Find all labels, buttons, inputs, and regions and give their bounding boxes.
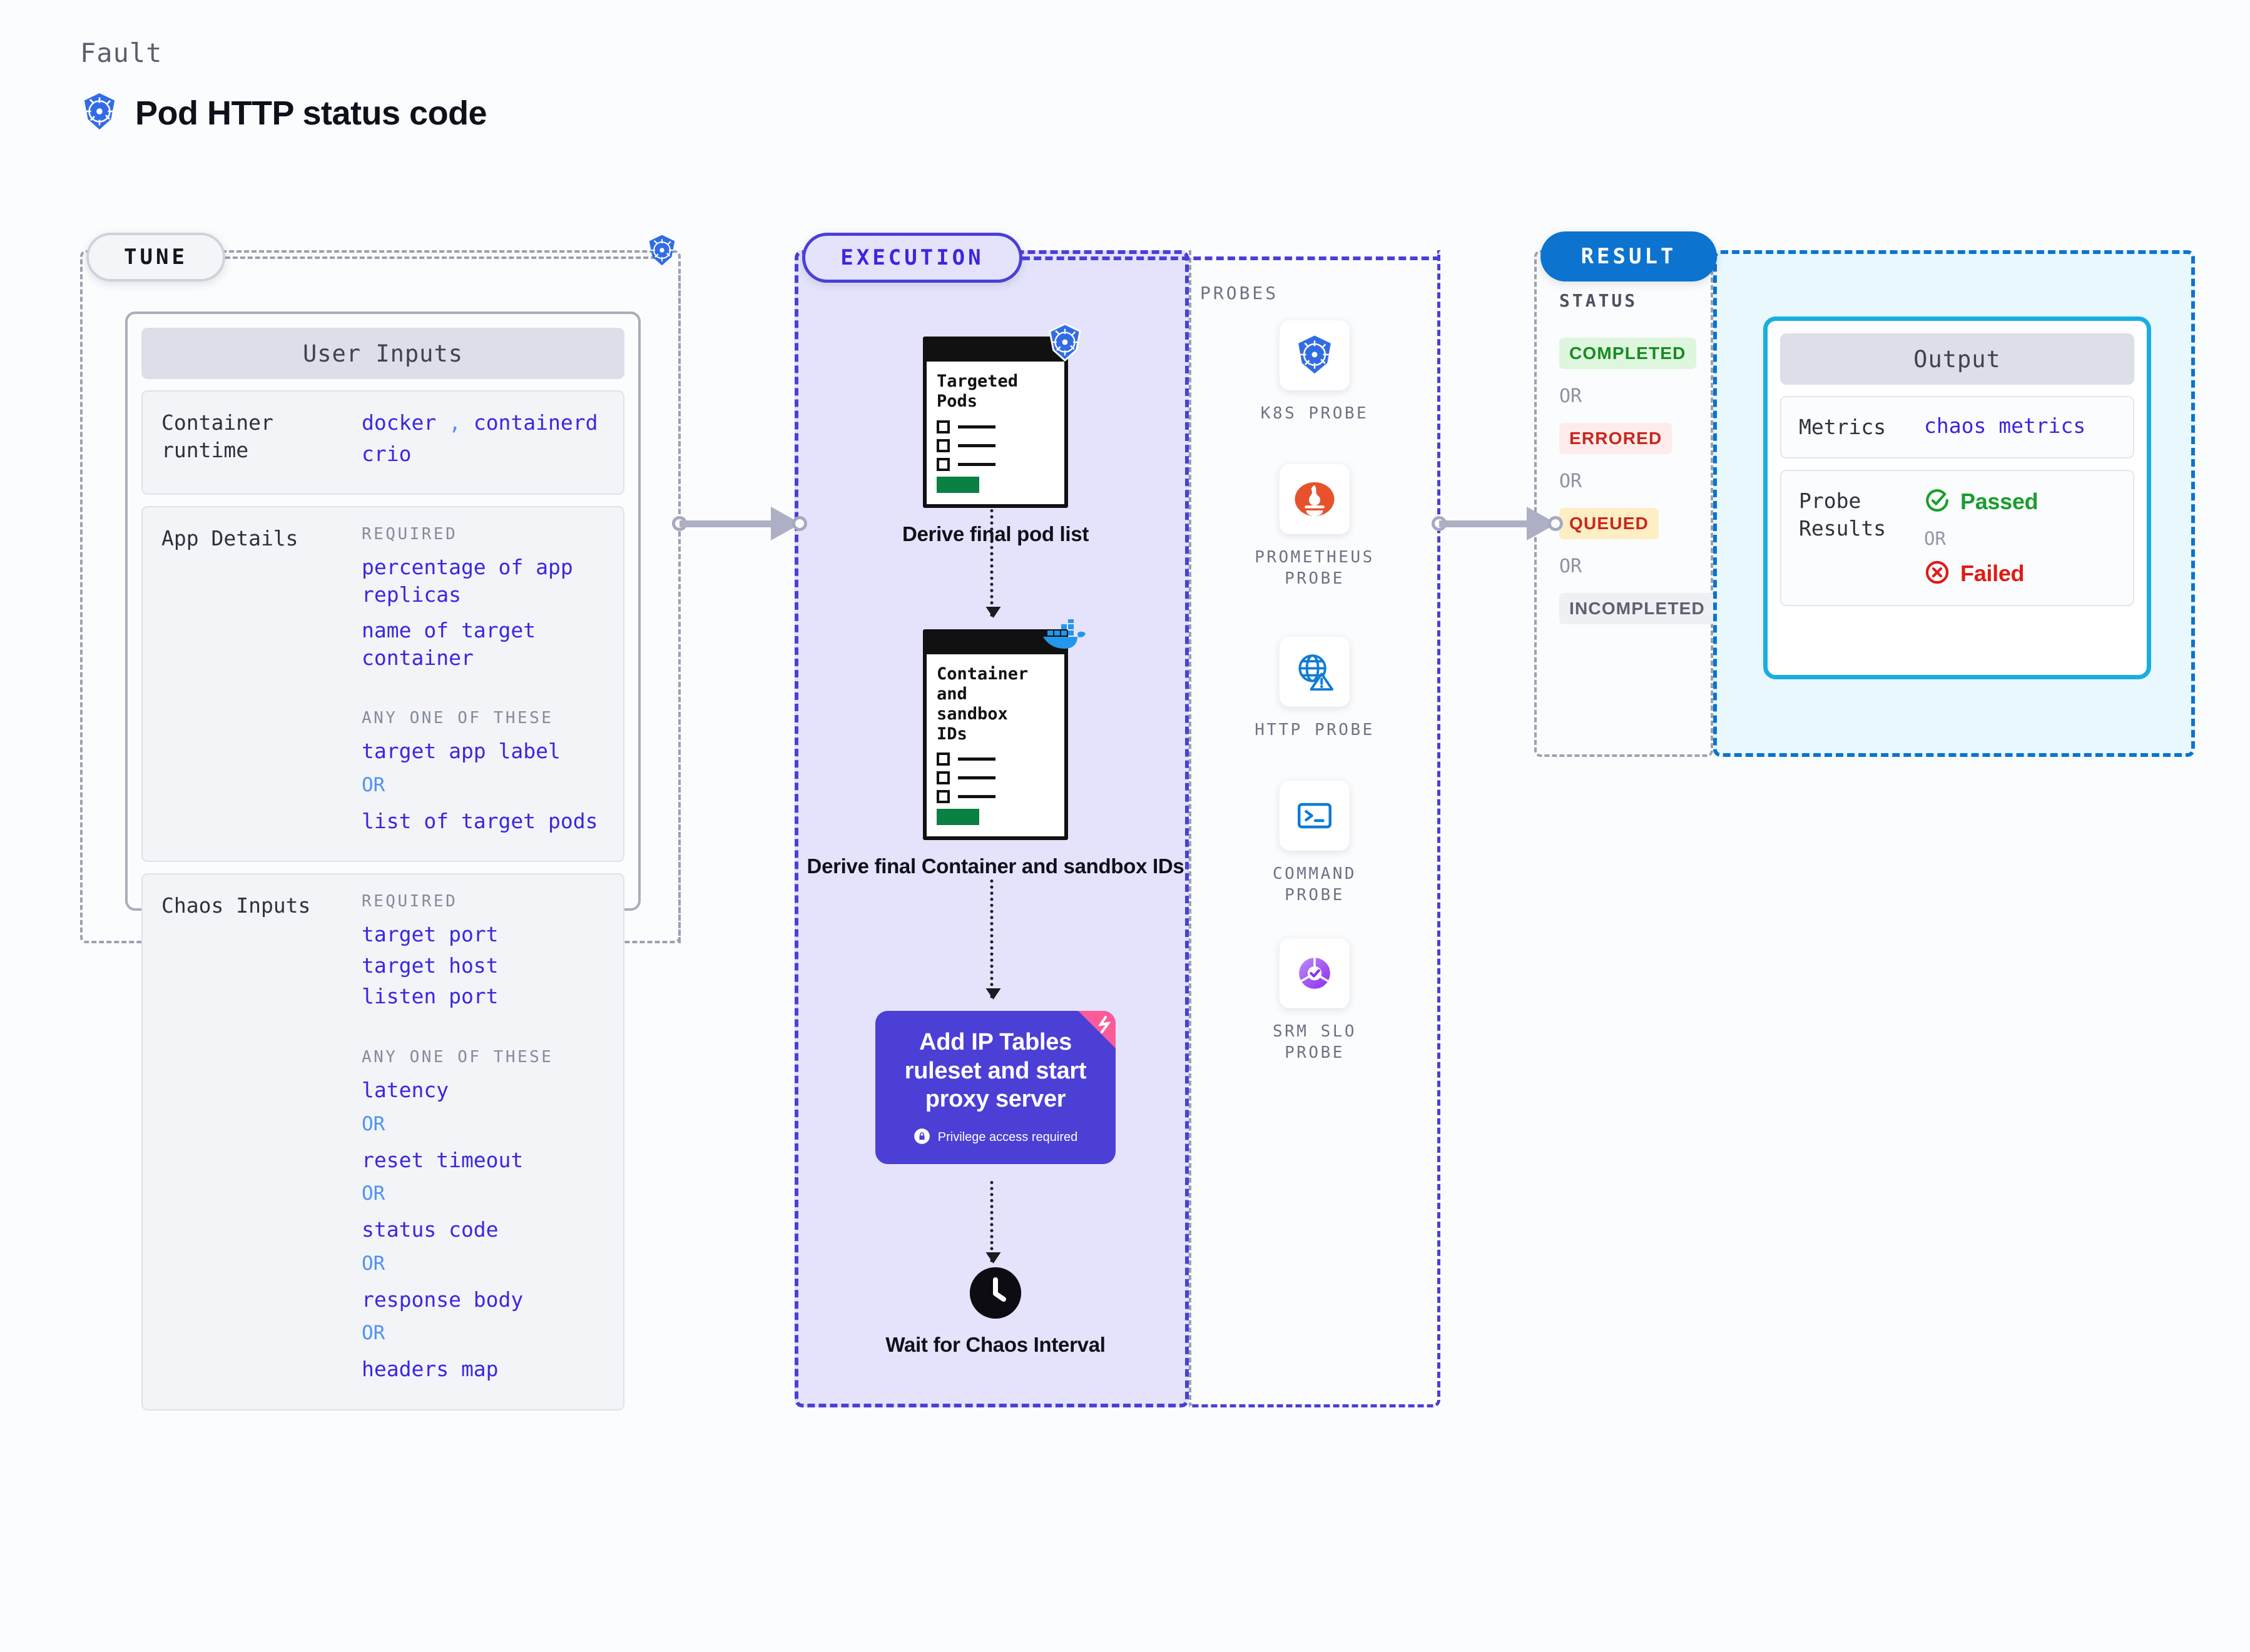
add-iptables-node[interactable]: Add IP Tables ruleset and start proxy se…	[875, 1011, 1116, 1164]
page-title-row: Pod HTTP status code	[80, 92, 487, 134]
doc-rule	[958, 776, 995, 779]
checkbox-icon	[937, 420, 950, 433]
input-value[interactable]: docker , containerd	[362, 409, 604, 437]
status-badge-incompleted: INCOMPLETED	[1559, 593, 1715, 624]
execution-node-iptables: Add IP Tables ruleset and start proxy se…	[798, 1011, 1193, 1164]
group-label-any-one: ANY ONE OF THESE	[362, 709, 604, 727]
probe-label: COMMAND PROBE	[1189, 863, 1440, 906]
chaos-corner-badge-icon	[1078, 1011, 1116, 1052]
input-value[interactable]: name of target container	[362, 617, 604, 671]
connector-execution-to-result	[1432, 507, 1564, 540]
probes-label: PROBES	[1200, 283, 1278, 303]
execution-dashed-connector	[1022, 256, 1440, 260]
input-value[interactable]: latency	[362, 1077, 604, 1104]
page-header: Fault Pod HTTP status code	[80, 38, 487, 134]
container-sandbox-doc: Container and sandbox IDs	[923, 629, 1068, 840]
probe-prometheus[interactable]: PROMETHEUS PROBE	[1189, 464, 1440, 590]
input-value[interactable]: headers map	[362, 1356, 604, 1383]
tune-panel-tag: TUNE	[86, 233, 225, 281]
doc-green-bar	[937, 809, 979, 825]
execution-node-pod-list: Targeted Pods	[798, 337, 1193, 547]
tune-right-border	[678, 275, 681, 943]
kubernetes-icon	[80, 92, 119, 134]
srm-slo-icon	[1280, 938, 1350, 1008]
status-badge-queued: QUEUED	[1559, 508, 1659, 539]
doc-rule	[958, 425, 995, 428]
input-value[interactable]: target port	[362, 921, 604, 948]
privilege-row: Privilege access required	[892, 1128, 1099, 1148]
check-circle-icon	[1924, 487, 1950, 517]
docker-icon	[1042, 619, 1088, 659]
group-label-any-one: ANY ONE OF THESE	[362, 1048, 604, 1067]
checkbox-icon	[937, 439, 950, 452]
or-separator: OR	[1924, 528, 2038, 549]
input-value[interactable]: percentage of app replicas	[362, 554, 604, 608]
input-value[interactable]: target app label	[362, 737, 604, 765]
node-title: Add IP Tables ruleset and start proxy se…	[892, 1028, 1099, 1114]
globe-warning-icon	[1280, 637, 1350, 707]
page-title: Pod HTTP status code	[135, 94, 487, 133]
privilege-note: Privilege access required	[938, 1130, 1077, 1145]
result-status-panel: STATUS COMPLETED OR ERRORED OR QUEUED OR…	[1534, 250, 1713, 757]
or-separator: OR	[1559, 385, 1582, 407]
input-row-app-details: App Details REQUIRED percentage of app r…	[141, 506, 624, 862]
execution-node-container-ids: Container and sandbox IDs	[798, 629, 1193, 879]
node-caption: Wait for Chaos Interval	[798, 1332, 1193, 1357]
input-row-container-runtime: Container runtime docker , containerd cr…	[141, 390, 624, 495]
output-key: Metrics	[1799, 413, 1924, 441]
input-key: Container runtime	[161, 409, 362, 464]
status-badge-errored: ERRORED	[1559, 423, 1672, 454]
or-separator: OR	[362, 1113, 604, 1135]
input-value[interactable]: response body	[362, 1286, 604, 1314]
input-value[interactable]: status code	[362, 1216, 604, 1244]
kubernetes-icon	[1280, 320, 1350, 390]
doc-title: Container and sandbox IDs	[937, 664, 1054, 744]
output-row-metrics: Metrics chaos metrics	[1780, 396, 2134, 459]
input-value[interactable]: reset timeout	[362, 1147, 604, 1174]
terminal-icon	[1280, 781, 1350, 851]
input-row-chaos-inputs: Chaos Inputs REQUIRED target port target…	[141, 873, 624, 1410]
probe-result-failed: Failed	[1924, 559, 2038, 589]
connector-tune-to-execution	[672, 507, 807, 540]
node-caption: Derive final pod list	[798, 522, 1193, 547]
user-inputs-card: User Inputs Container runtime docker , c…	[125, 312, 641, 911]
tune-dashed-connector	[225, 256, 663, 259]
input-value[interactable]: listen port	[362, 983, 604, 1010]
prometheus-icon	[1280, 464, 1350, 534]
doc-green-bar	[937, 477, 979, 493]
flow-arrow	[990, 879, 994, 998]
kubernetes-icon	[646, 234, 678, 270]
probe-result-passed: Passed	[1924, 487, 2038, 517]
probe-http[interactable]: HTTP PROBE	[1189, 637, 1440, 741]
probe-label: PROMETHEUS PROBE	[1189, 547, 1440, 590]
kubernetes-icon	[1046, 323, 1084, 365]
user-inputs-title: User Inputs	[141, 328, 624, 379]
flow-arrow	[990, 509, 994, 617]
spacer	[362, 1019, 604, 1048]
input-value[interactable]: target host	[362, 952, 604, 980]
flow-arrow	[990, 1181, 994, 1262]
or-separator: OR	[1559, 470, 1582, 492]
group-label-required: REQUIRED	[362, 525, 604, 544]
failed-label: Failed	[1960, 560, 2024, 587]
doc-rule	[958, 463, 995, 466]
execution-node-wait: Wait for Chaos Interval	[798, 1267, 1193, 1357]
probe-command[interactable]: COMMAND PROBE	[1189, 781, 1440, 906]
doc-titlebar	[927, 340, 1064, 362]
doc-rule	[958, 795, 995, 798]
or-separator: OR	[1559, 555, 1582, 577]
doc-rule	[958, 758, 995, 761]
clock-icon	[970, 1267, 1021, 1319]
or-separator: OR	[362, 774, 604, 796]
probe-label: SRM SLO PROBE	[1189, 1021, 1440, 1064]
node-caption: Derive final Container and sandbox IDs	[798, 854, 1193, 879]
probe-srm-slo[interactable]: SRM SLO PROBE	[1189, 938, 1440, 1064]
or-separator: OR	[362, 1322, 604, 1344]
result-output-panel: Output Metrics chaos metrics Probe Resul…	[1713, 250, 2195, 757]
spacer	[362, 680, 604, 709]
input-key: App Details	[161, 525, 362, 552]
or-separator: OR	[362, 1182, 604, 1205]
tune-panel: User Inputs Container runtime docker , c…	[80, 250, 681, 943]
x-circle-icon	[1924, 559, 1950, 589]
input-value[interactable]: crio	[362, 440, 604, 468]
status-badge-completed: COMPLETED	[1559, 338, 1696, 369]
fault-eyebrow: Fault	[80, 38, 487, 68]
checkbox-icon	[937, 790, 950, 803]
result-panel-tag: RESULT	[1540, 231, 1717, 281]
execution-panel-tag: EXECUTION	[802, 233, 1022, 283]
input-value[interactable]: list of target pods	[362, 808, 604, 835]
probe-label: HTTP PROBE	[1189, 719, 1440, 741]
checkbox-icon	[937, 753, 950, 766]
output-card: Output Metrics chaos metrics Probe Resul…	[1763, 317, 2151, 679]
checkbox-icon	[937, 458, 950, 471]
passed-label: Passed	[1960, 489, 2038, 515]
output-key: Probe Results	[1799, 487, 1924, 542]
output-row-probe-results: Probe Results Passed OR	[1780, 470, 2134, 606]
checkbox-icon	[937, 771, 950, 784]
input-key: Chaos Inputs	[161, 892, 362, 920]
execution-panel: Targeted Pods	[795, 250, 1189, 1407]
targeted-pods-doc: Targeted Pods	[923, 337, 1068, 508]
probe-label: K8S PROBE	[1189, 403, 1440, 424]
output-value[interactable]: chaos metrics	[1924, 413, 2085, 438]
status-label: STATUS	[1559, 290, 1637, 311]
or-separator: OR	[362, 1252, 604, 1275]
probe-k8s[interactable]: K8S PROBE	[1189, 320, 1440, 424]
doc-title: Targeted Pods	[937, 372, 1054, 412]
group-label-required: REQUIRED	[362, 892, 604, 911]
lock-icon	[914, 1128, 930, 1148]
output-title: Output	[1780, 333, 2134, 385]
doc-rule	[958, 444, 995, 447]
